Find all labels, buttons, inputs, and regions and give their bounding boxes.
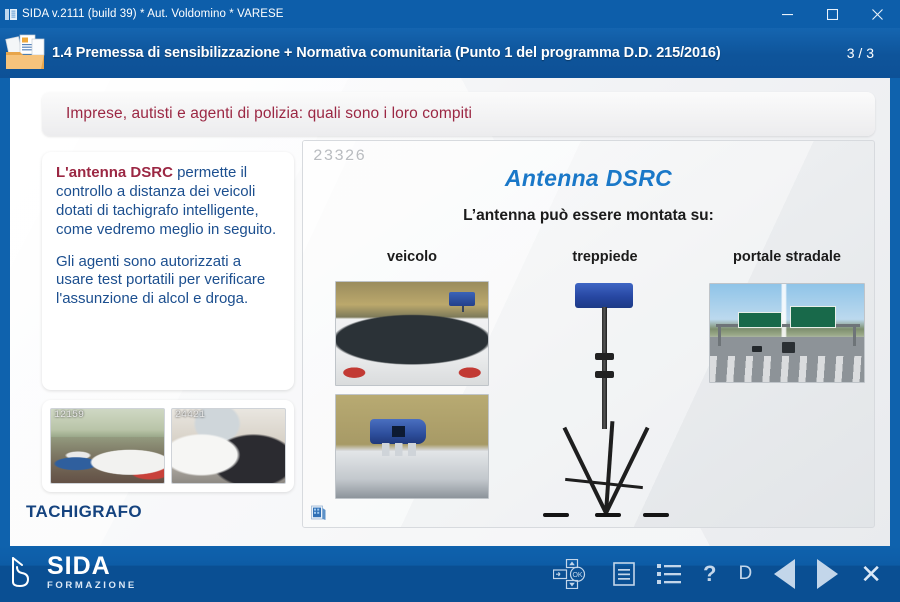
building-icon xyxy=(0,0,22,28)
tripod-knob-lower xyxy=(595,371,614,378)
next-arrow-shape xyxy=(817,559,838,589)
column-veicolo: veicolo xyxy=(317,249,507,499)
left-paragraph-1: L'antenna DSRC permette il controllo a d… xyxy=(56,164,280,240)
close-button[interactable] xyxy=(855,0,900,28)
content-subtitle: L’antenna può essere montata su: xyxy=(303,207,874,225)
thumbnail-photo-1[interactable]: 12159 xyxy=(50,408,165,484)
close-icon[interactable]: ✕ xyxy=(860,561,882,587)
sida-logo-text: SIDA FORMAZIONE xyxy=(47,554,137,591)
highway-sign-right xyxy=(790,306,836,328)
dpad-navigation-icon[interactable]: OK xyxy=(553,559,591,589)
dsrc-antenna-closeup-shape xyxy=(370,419,426,444)
dictionary-icon[interactable]: D xyxy=(738,563,752,585)
tripod-foot-center xyxy=(595,513,621,517)
photo-vehicle-antenna-closeup xyxy=(335,394,489,499)
highway-sign-left xyxy=(738,312,782,328)
antenna-mount-legs-shape xyxy=(382,443,416,456)
highway-car-1 xyxy=(752,346,762,352)
column-treppiede-label: treppiede xyxy=(515,249,695,265)
left-paragraph-2: Gli agenti sono autorizzati a usare test… xyxy=(56,253,280,310)
column-treppiede: treppiede xyxy=(515,249,695,517)
slide-content-id: 23326 xyxy=(313,147,366,165)
tripod-antenna-shape xyxy=(575,283,633,308)
previous-arrow-shape xyxy=(774,559,795,589)
document-icon[interactable] xyxy=(613,562,635,586)
tripod-leg-left xyxy=(563,427,608,514)
window-title-text: SIDA v.2111 (build 39) * Aut. Voldomino … xyxy=(22,8,284,20)
svg-text:OK: OK xyxy=(572,572,582,579)
minimize-button[interactable] xyxy=(765,0,810,28)
tripod-mast-shape xyxy=(602,307,607,429)
content-title: Antenna DSRC xyxy=(303,165,874,192)
thumbnail-card: 12159 24421 xyxy=(42,400,294,492)
tripod-knob-upper xyxy=(595,353,614,360)
dsrc-antenna-shape xyxy=(449,292,475,306)
thumbnail-1-id: 12159 xyxy=(54,410,84,421)
slide-subtitle-bar: Imprese, autisti e agenti di polizia: qu… xyxy=(42,92,875,136)
left-text-card: L'antenna DSRC permette il controllo a d… xyxy=(42,152,294,390)
sida-logo: SIDA FORMAZIONE xyxy=(10,552,137,593)
tachigrafo-brand-label: TACHIGRAFO xyxy=(26,502,142,522)
image-thumb-icon[interactable] xyxy=(311,505,327,521)
list-icon[interactable] xyxy=(657,563,681,585)
paragraph-gap xyxy=(56,240,280,253)
help-icon[interactable]: ? xyxy=(703,561,716,587)
content-columns: veicolo treppiede xyxy=(303,249,874,519)
left-paragraph-1-strong: L'antenna DSRC xyxy=(56,164,173,181)
sida-logo-secondary: FORMAZIONE xyxy=(47,581,137,591)
tripod-brace-shape xyxy=(565,478,643,489)
tripod-foot-left xyxy=(543,513,569,517)
photo-vehicle-rear xyxy=(335,281,489,386)
gantry-post-right xyxy=(853,324,856,346)
slide-content-panel: 23326 Antenna DSRC L’antenna può essere … xyxy=(302,140,875,528)
previous-icon[interactable] xyxy=(774,559,795,589)
lesson-header: 1.4 Premessa di sensibilizzazione + Norm… xyxy=(0,28,900,78)
photo-highway-gantry xyxy=(709,283,865,383)
toolbar-buttons: OK xyxy=(553,546,882,602)
bottom-toolbar: SIDA FORMAZIONE OK xyxy=(0,546,900,602)
column-portale-stradale-label: portale stradale xyxy=(701,249,873,265)
maximize-button[interactable] xyxy=(810,0,855,28)
column-portale-stradale: portale stradale xyxy=(701,249,873,383)
gantry-post-left xyxy=(718,324,721,346)
next-icon[interactable] xyxy=(817,559,838,589)
thumbnail-2-id: 24421 xyxy=(175,410,205,421)
slide-subtitle-text: Imprese, autisti e agenti di polizia: qu… xyxy=(66,105,472,123)
highway-lane-markings-shape xyxy=(710,356,864,383)
window-title-bar: SIDA v.2111 (build 39) * Aut. Voldomino … xyxy=(0,0,900,28)
thumbnail-photo-2[interactable]: 24421 xyxy=(171,408,286,484)
column-veicolo-label: veicolo xyxy=(317,249,507,265)
photo-tripod xyxy=(525,279,685,517)
swan-logo-icon xyxy=(10,552,40,593)
folder-documents-icon xyxy=(0,28,52,78)
application-window: SIDA v.2111 (build 39) * Aut. Voldomino … xyxy=(0,0,900,602)
slide-stage: Imprese, autisti e agenti di polizia: qu… xyxy=(10,78,890,546)
tripod-foot-right xyxy=(643,513,669,517)
page-indicator: 3 / 3 xyxy=(847,45,900,61)
highway-truck-1 xyxy=(782,342,795,353)
lesson-title: 1.4 Premessa di sensibilizzazione + Norm… xyxy=(52,45,721,61)
sida-logo-primary: SIDA xyxy=(47,554,137,579)
